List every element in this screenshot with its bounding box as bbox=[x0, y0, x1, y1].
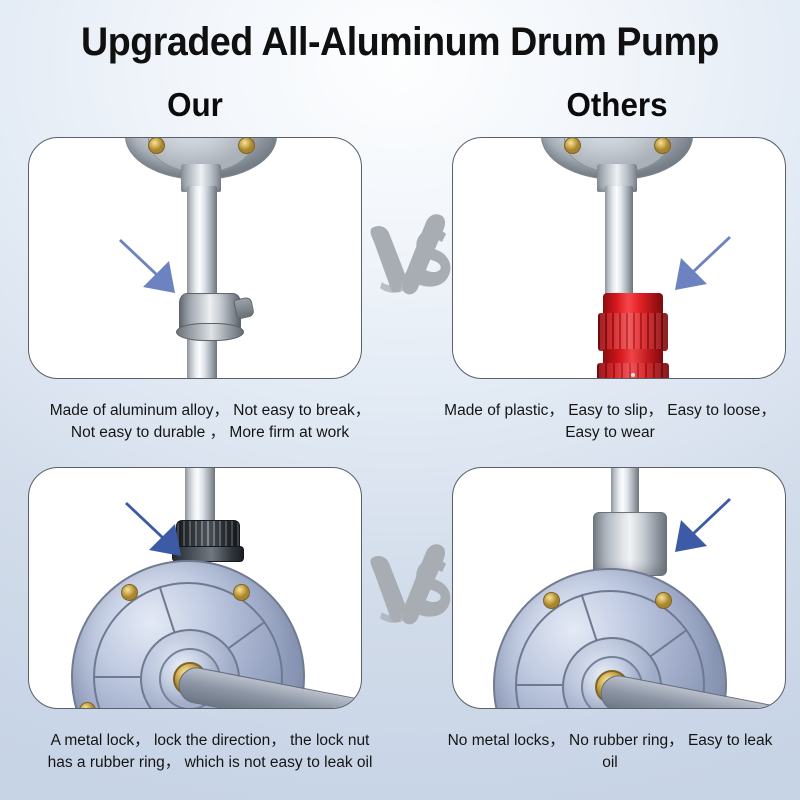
product-photo-others-plastic-collar bbox=[453, 138, 785, 378]
brass-bolt-icon bbox=[655, 592, 672, 609]
product-photo-our-lock-collar bbox=[29, 138, 361, 378]
infographic-page: Upgraded All-Aluminum Drum Pump Our Othe… bbox=[0, 0, 800, 800]
vs-badge-top bbox=[360, 208, 456, 304]
vs-icon bbox=[360, 208, 456, 304]
red-collar-knurled-band bbox=[598, 313, 668, 351]
product-photo-others-no-lock bbox=[453, 468, 785, 708]
brass-bolt-icon bbox=[543, 592, 560, 609]
collar-wing-screw-icon bbox=[233, 296, 255, 319]
vs-icon bbox=[360, 538, 456, 634]
brass-bolt-icon bbox=[654, 137, 671, 154]
brass-bolt-icon bbox=[233, 584, 250, 601]
column-heading-others: Others bbox=[522, 86, 712, 124]
brass-bolt-icon bbox=[121, 584, 138, 601]
caption-others-plastic-collar: Made of plastic， Easy to slip， Easy to l… bbox=[424, 400, 796, 444]
vs-badge-bottom bbox=[360, 538, 456, 634]
brass-bolt-icon bbox=[148, 137, 165, 154]
brass-bolt-icon bbox=[238, 137, 255, 154]
product-card-our-lock-nut bbox=[28, 467, 362, 709]
red-collar-top-band bbox=[603, 293, 663, 315]
caption-others-no-lock: No metal locks， No rubber ring， Easy to … bbox=[424, 730, 796, 774]
red-plastic-collar-icon bbox=[595, 293, 671, 379]
plain-grey-collar-icon bbox=[593, 512, 667, 576]
caption-our-lock-collar: Made of aluminum alloy， Not easy to brea… bbox=[10, 400, 410, 444]
red-collar-vent-hole bbox=[631, 373, 635, 377]
product-card-others-plastic-collar bbox=[452, 137, 786, 379]
aluminum-tube-icon bbox=[187, 186, 217, 379]
product-card-others-no-lock bbox=[452, 467, 786, 709]
column-heading-our: Our bbox=[100, 86, 290, 124]
metal-lock-collar-icon bbox=[179, 293, 241, 337]
brass-bolt-icon bbox=[564, 137, 581, 154]
highlight-arrow-icon bbox=[123, 496, 197, 562]
brass-bolt-icon bbox=[79, 702, 96, 709]
product-card-our-lock-collar bbox=[28, 137, 362, 379]
product-photo-our-lock-nut bbox=[29, 468, 361, 708]
highlight-arrow-icon bbox=[659, 230, 733, 296]
page-title: Upgraded All-Aluminum Drum Pump bbox=[24, 20, 776, 65]
highlight-arrow-icon bbox=[117, 233, 191, 299]
highlight-arrow-icon bbox=[659, 492, 733, 558]
caption-our-lock-nut: A metal lock， lock the direction， the lo… bbox=[8, 730, 412, 774]
